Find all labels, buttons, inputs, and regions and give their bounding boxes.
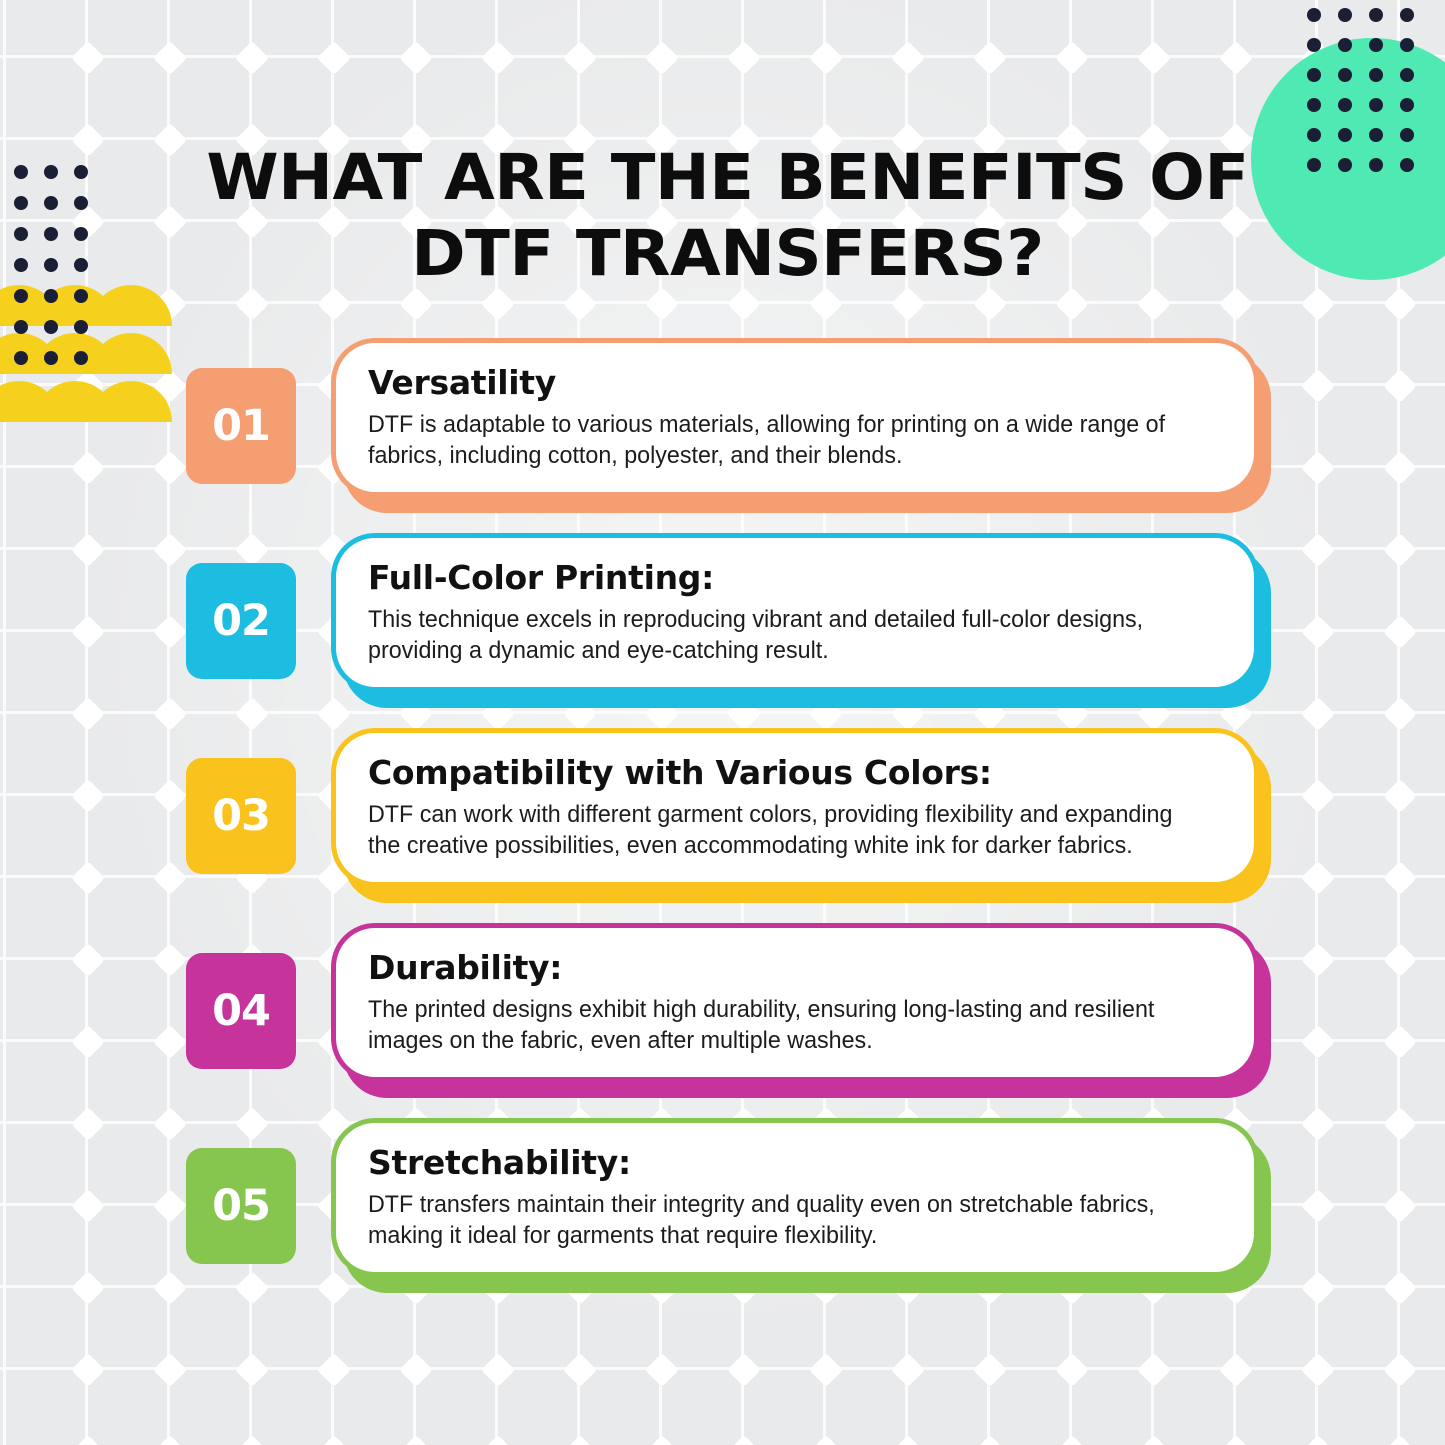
benefit-number-badge: 03	[186, 758, 296, 874]
decorative-dot	[1400, 98, 1414, 112]
decorative-dot	[1400, 128, 1414, 142]
benefit-number-badge: 04	[186, 953, 296, 1069]
benefit-card: Durability:The printed designs exhibit h…	[331, 923, 1271, 1098]
page-title: WHAT ARE THE BENEFITS OF DTF TRANSFERS?	[169, 140, 1287, 292]
decorative-dot	[14, 351, 28, 365]
card-surface: Full-Color Printing:This technique excel…	[331, 533, 1259, 692]
decorative-dot	[1400, 68, 1414, 82]
decorative-dot	[1369, 38, 1383, 52]
benefit-description: DTF transfers maintain their integrity a…	[368, 1189, 1196, 1251]
infographic-canvas: WHAT ARE THE BENEFITS OF DTF TRANSFERS? …	[0, 0, 1445, 1445]
decorative-dot	[1307, 128, 1321, 142]
decorative-dot	[14, 258, 28, 272]
benefit-number-label: 03	[212, 791, 270, 841]
decorative-dot	[74, 196, 88, 210]
card-surface: VersatilityDTF is adaptable to various m…	[331, 338, 1259, 497]
decorative-dot	[44, 196, 58, 210]
decorative-dot	[1338, 68, 1352, 82]
decorative-dot	[14, 320, 28, 334]
decorative-dot	[1338, 128, 1352, 142]
decorative-dot	[44, 289, 58, 303]
decorative-dot	[74, 351, 88, 365]
benefit-card-list: 01VersatilityDTF is adaptable to various…	[186, 338, 1271, 1313]
decorative-dot	[74, 320, 88, 334]
decorative-dot	[74, 165, 88, 179]
benefit-description: DTF is adaptable to various materials, a…	[368, 409, 1196, 471]
decorative-dot	[14, 227, 28, 241]
page-title-line-2: TRANSFERS?	[576, 217, 1044, 290]
decorative-dot	[1369, 158, 1383, 172]
benefit-number-label: 01	[212, 401, 270, 451]
decorative-dot	[74, 227, 88, 241]
card-surface: Compatibility with Various Colors:DTF ca…	[331, 728, 1259, 887]
decorative-dot	[1338, 98, 1352, 112]
benefit-description: DTF can work with different garment colo…	[368, 799, 1196, 861]
decorative-dot	[44, 165, 58, 179]
decorative-dot	[1400, 8, 1414, 22]
decorative-dot	[1307, 98, 1321, 112]
decorative-dot	[44, 320, 58, 334]
benefit-heading: Compatibility with Various Colors:	[368, 753, 1222, 793]
decorative-dot	[1307, 68, 1321, 82]
benefit-card: VersatilityDTF is adaptable to various m…	[331, 338, 1271, 513]
benefit-number-badge: 05	[186, 1148, 296, 1264]
decorative-dot	[44, 258, 58, 272]
benefit-number-badge: 01	[186, 368, 296, 484]
decorative-dot	[74, 289, 88, 303]
card-surface: Stretchability:DTF transfers maintain th…	[331, 1118, 1259, 1277]
decorative-dot	[44, 227, 58, 241]
decorative-dot	[14, 196, 28, 210]
benefit-number-label: 02	[212, 596, 270, 646]
decorative-dot	[14, 289, 28, 303]
benefit-heading: Full-Color Printing:	[368, 558, 1222, 598]
decorative-dot	[1400, 158, 1414, 172]
benefit-card-row: 03Compatibility with Various Colors:DTF …	[186, 728, 1271, 923]
decorative-dot	[1338, 158, 1352, 172]
benefit-card-row: 04Durability:The printed designs exhibit…	[186, 923, 1271, 1118]
benefit-card: Stretchability:DTF transfers maintain th…	[331, 1118, 1271, 1293]
decorative-dot	[14, 165, 28, 179]
decorative-dot	[44, 351, 58, 365]
benefit-number-label: 04	[212, 986, 270, 1036]
decorative-dot	[1369, 8, 1383, 22]
benefit-card-row: 05Stretchability:DTF transfers maintain …	[186, 1118, 1271, 1313]
decorative-dot	[1307, 8, 1321, 22]
decorative-dot	[1338, 8, 1352, 22]
benefit-description: The printed designs exhibit high durabil…	[368, 994, 1196, 1056]
card-surface: Durability:The printed designs exhibit h…	[331, 923, 1259, 1082]
benefit-card: Compatibility with Various Colors:DTF ca…	[331, 728, 1271, 903]
benefit-card-row: 02Full-Color Printing:This technique exc…	[186, 533, 1271, 728]
decorative-dot	[1369, 98, 1383, 112]
benefit-heading: Durability:	[368, 948, 1222, 988]
benefit-heading: Stretchability:	[368, 1143, 1222, 1183]
dot-grid-top-right	[1307, 8, 1427, 188]
decorative-dot	[1369, 128, 1383, 142]
decorative-dot	[1400, 38, 1414, 52]
decorative-dot	[1307, 158, 1321, 172]
benefit-description: This technique excels in reproducing vib…	[368, 604, 1196, 666]
decorative-dot	[1369, 68, 1383, 82]
decorative-dot	[74, 258, 88, 272]
benefit-card-row: 01VersatilityDTF is adaptable to various…	[186, 338, 1271, 533]
benefit-heading: Versatility	[368, 363, 1222, 403]
benefit-number-label: 05	[212, 1181, 270, 1231]
decorative-dot	[1307, 38, 1321, 52]
benefit-card: Full-Color Printing:This technique excel…	[331, 533, 1271, 708]
benefit-number-badge: 02	[186, 563, 296, 679]
decorative-dot	[1338, 38, 1352, 52]
